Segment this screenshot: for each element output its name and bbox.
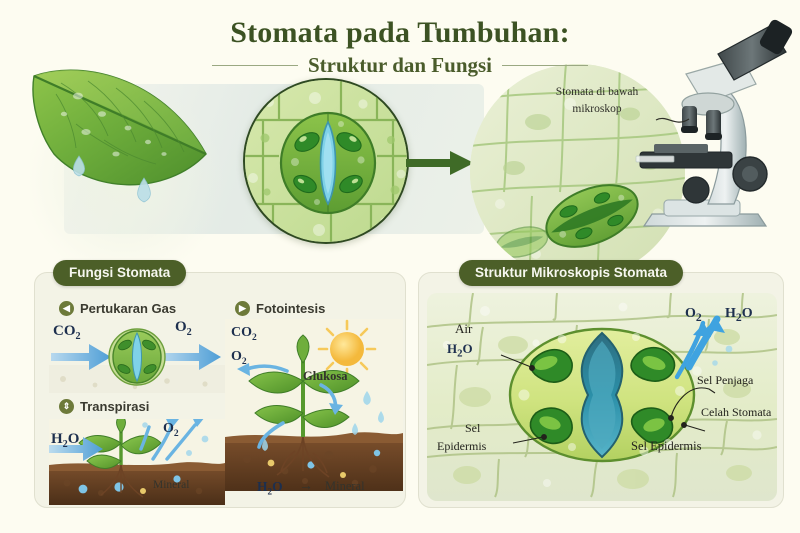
- up-down-arrow-circle-icon: ⇕: [59, 399, 74, 414]
- callout-celah-stomata: Celah Stomata: [701, 405, 771, 420]
- page-title: Stomata pada Tumbuhan:: [0, 16, 800, 50]
- callout-sel-penjaga: Sel Penjaga: [697, 373, 753, 388]
- microscope-annotation-line2: mikroskop: [572, 103, 621, 115]
- panel-fungsi-stomata: Fungsi Stomata ◀ Pertukaran Gas: [34, 272, 406, 508]
- section-fotointesis: ▶ Fotointesis: [235, 301, 325, 316]
- callout-air-formula: H2O: [447, 341, 473, 361]
- photosynthesis-co2-label: CO2: [231, 325, 257, 343]
- section-pertukaran-gas: ◀ Pertukaran Gas: [59, 301, 176, 316]
- callout-sel-epidermis-left-line1: Sel: [465, 421, 480, 436]
- page-subtitle: Struktur dan Fungsi: [308, 53, 492, 78]
- microscope-annotation-line1: Stomata di bawah: [556, 86, 638, 98]
- microscope-annotation: Stomata di bawah mikroskop: [527, 84, 667, 117]
- panel-fungsi-stomata-badge: Fungsi Stomata: [53, 260, 186, 286]
- photosynthesis-o2-label: O2: [231, 349, 247, 367]
- subtitle-rule-right: [502, 65, 588, 66]
- transpiration-mineral-label: Mineral: [153, 479, 189, 491]
- callout-sel-epidermis-left-line2: Epidermis: [437, 439, 486, 454]
- callout-out-oxygen: O2: [685, 305, 702, 325]
- hero-illustration: Stomata di bawah mikroskop: [0, 66, 800, 266]
- soil-mineral-label: Mineral: [325, 479, 365, 494]
- page-subtitle-row: Struktur dan Fungsi: [0, 53, 800, 78]
- callout-air: Air: [455, 321, 472, 337]
- subtitle-rule-left: [212, 65, 298, 66]
- section-pertukaran-gas-label: Pertukaran Gas: [80, 301, 176, 316]
- transpiration-h2o-label: H2O: [51, 431, 79, 450]
- gas-exchange-co2-label: CO2: [53, 323, 81, 342]
- section-fotointesis-label: Fotointesis: [256, 301, 325, 316]
- right-arrow-circle-icon: ▶: [235, 301, 250, 316]
- microscope-annotation-pointer: [655, 112, 695, 134]
- right-arrow-icon: [406, 150, 476, 176]
- photosynthesis-glukosa-label: Glukosa: [303, 369, 347, 384]
- page-title-block: Stomata pada Tumbuhan: Struktur dan Fung…: [0, 16, 800, 78]
- section-transpirasi-label: Transpirasi: [80, 399, 149, 414]
- stomata-closeup-circle: [243, 78, 409, 244]
- panel-struktur-badge: Struktur Mikroskopis Stomata: [459, 260, 683, 286]
- callout-sel-epidermis-right: Sel Epidermis: [631, 439, 701, 455]
- soil-water-label: H2O: [257, 479, 283, 497]
- left-arrow-circle-icon: ◀: [59, 301, 74, 316]
- gas-exchange-o2-label: O2: [175, 319, 192, 338]
- soil-arrow-icon: →: [299, 479, 313, 495]
- panel-struktur-mikroskopis: Struktur Mikroskopis Stomata: [418, 272, 784, 508]
- photosynthesis-illustration: [225, 319, 403, 503]
- transpiration-o2-label: O2: [163, 421, 179, 439]
- infographic-canvas: Stomata pada Tumbuhan: Struktur dan Fung…: [0, 0, 800, 533]
- section-transpirasi: ⇕ Transpirasi: [59, 399, 149, 414]
- callout-out-water: H2O: [725, 305, 753, 325]
